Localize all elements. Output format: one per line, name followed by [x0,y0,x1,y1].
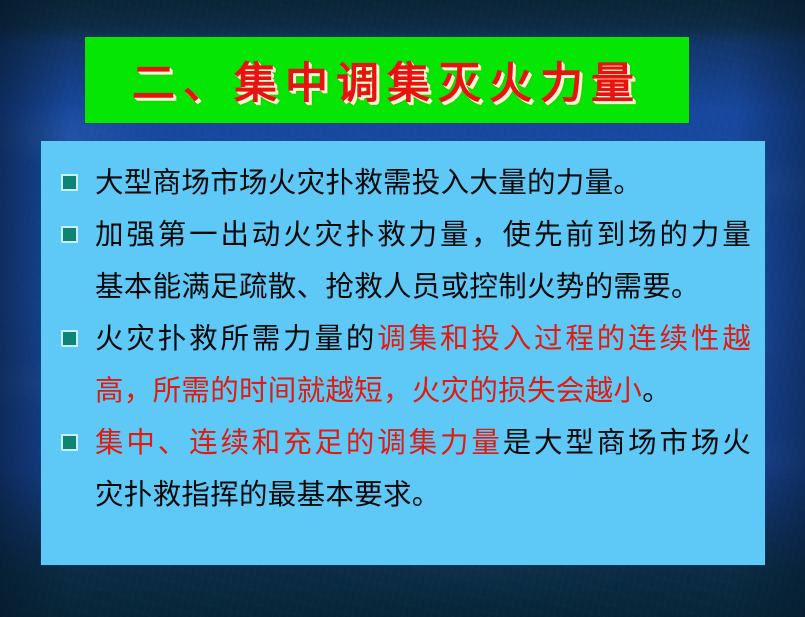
emphasis-text: 调集和投入过程的连续性越 [377,322,751,355]
bullet-square-icon [61,330,78,347]
body-text: 基本能满足疏散、抢救人员或控制火势的需要。 [95,270,700,303]
slide-canvas: 二、集中调集灭火力量 大型商场市场火灾扑救需投入大量的力量。加强第一出动火灾扑救… [0,0,805,617]
title-banner: 二、集中调集灭火力量 [85,37,689,123]
bullet-item: 火灾扑救所需力量的调集和投入过程的连续性越高，所需的时间就越短，火灾的损失会越小… [55,313,751,417]
bullet-text: 集中、连续和充足的调集力量是大型商场市场火灾扑救指挥的最基本要求。 [95,417,751,521]
bullet-square-icon [61,226,78,243]
body-text: 。 [642,374,671,407]
bullet-text: 大型商场市场火灾扑救需投入大量的力量。 [95,157,751,209]
bullet-text: 火灾扑救所需力量的调集和投入过程的连续性越高，所需的时间就越短，火灾的损失会越小… [95,313,751,417]
bullet-line: 集中、连续和充足的调集力量是大型商场市场火 [95,417,751,469]
bullet-line: 高，所需的时间就越短，火灾的损失会越小。 [95,365,751,417]
content-panel: 大型商场市场火灾扑救需投入大量的力量。加强第一出动火灾扑救力量，使先前到场的力量… [41,141,765,565]
emphasis-text: 集中、连续和充足的调集力量 [95,426,503,459]
body-text: 大型商场市场火灾扑救需投入大量的力量。 [95,166,642,199]
slide-title: 二、集中调集灭火力量 [132,49,642,111]
body-text: 加强第一出动火灾扑救力量，使先前到场的力量 [95,218,751,251]
bullet-square-icon [61,434,78,451]
emphasis-text: 高，所需的时间就越短，火灾的损失会越小 [95,374,642,407]
bullet-list: 大型商场市场火灾扑救需投入大量的力量。加强第一出动火灾扑救力量，使先前到场的力量… [55,157,751,521]
body-text: 火灾扑救所需力量的 [95,322,377,355]
bullet-text: 加强第一出动火灾扑救力量，使先前到场的力量基本能满足疏散、抢救人员或控制火势的需… [95,209,751,313]
bullet-line: 加强第一出动火灾扑救力量，使先前到场的力量 [95,209,751,261]
bullet-item: 集中、连续和充足的调集力量是大型商场市场火灾扑救指挥的最基本要求。 [55,417,751,521]
bullet-line: 灾扑救指挥的最基本要求。 [95,469,751,521]
bullet-line: 基本能满足疏散、抢救人员或控制火势的需要。 [95,261,751,313]
bullet-square-icon [61,174,78,191]
bullet-item: 加强第一出动火灾扑救力量，使先前到场的力量基本能满足疏散、抢救人员或控制火势的需… [55,209,751,313]
bullet-item: 大型商场市场火灾扑救需投入大量的力量。 [55,157,751,209]
bullet-line: 大型商场市场火灾扑救需投入大量的力量。 [95,157,751,209]
body-text: 是大型商场市场火 [503,426,751,459]
bullet-line: 火灾扑救所需力量的调集和投入过程的连续性越 [95,313,751,365]
body-text: 灾扑救指挥的最基本要求。 [95,478,441,511]
